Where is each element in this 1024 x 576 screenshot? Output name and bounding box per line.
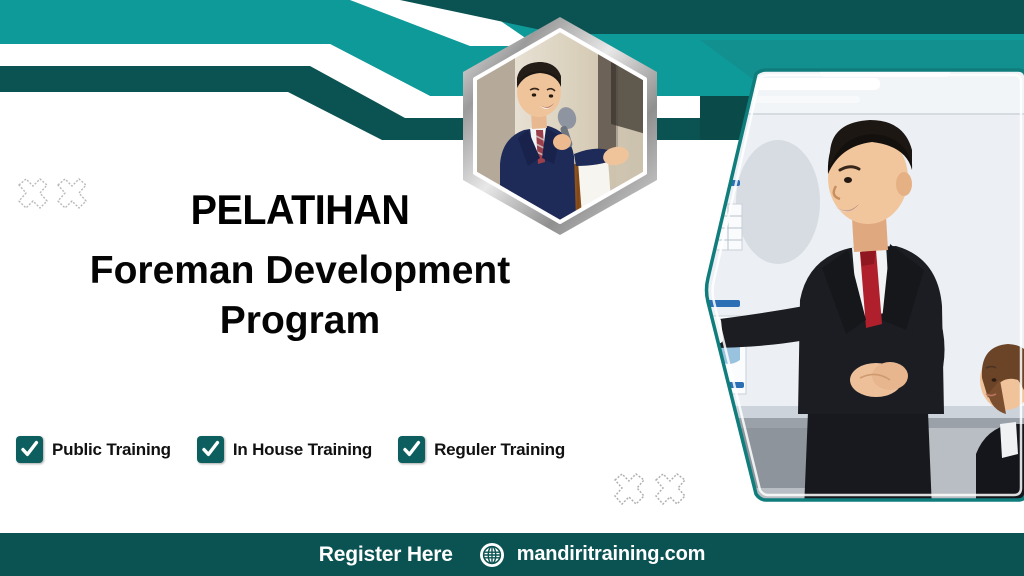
register-here-label[interactable]: Register Here: [319, 543, 453, 567]
training-type-label: Reguler Training: [434, 440, 565, 460]
training-type-item[interactable]: Reguler Training: [398, 436, 565, 463]
x-cross-icon: [656, 474, 685, 504]
website-label[interactable]: mandiritraining.com: [517, 543, 705, 566]
page-kicker: PELATIHAN: [56, 188, 545, 232]
page-title: Foreman Development Program: [40, 246, 560, 346]
training-type-item[interactable]: Public Training: [16, 436, 171, 463]
footer-bar: Register Here mandiritraining.com: [0, 533, 1024, 576]
poster-canvas: PELATIHAN Foreman Development Program Pu…: [0, 0, 1024, 576]
x-cross-decoration-bottom: [610, 472, 692, 514]
globe-icon: [479, 542, 505, 568]
checkbox-checked-icon[interactable]: [398, 436, 425, 463]
checkbox-checked-icon[interactable]: [16, 436, 43, 463]
page-title-line-2: Program: [220, 299, 380, 342]
training-type-label: In House Training: [233, 440, 372, 460]
headline-block: PELATIHAN Foreman Development Program: [40, 188, 560, 346]
page-title-line-1: Foreman Development: [90, 249, 510, 292]
training-types-list: Public Training In House Training Regule…: [16, 436, 565, 463]
training-type-label: Public Training: [52, 440, 171, 460]
checkbox-checked-icon[interactable]: [197, 436, 224, 463]
training-type-item[interactable]: In House Training: [197, 436, 372, 463]
website-group[interactable]: mandiritraining.com: [479, 542, 705, 568]
x-cross-icon: [615, 474, 644, 504]
photo-panel-trainer: [700, 62, 1024, 510]
